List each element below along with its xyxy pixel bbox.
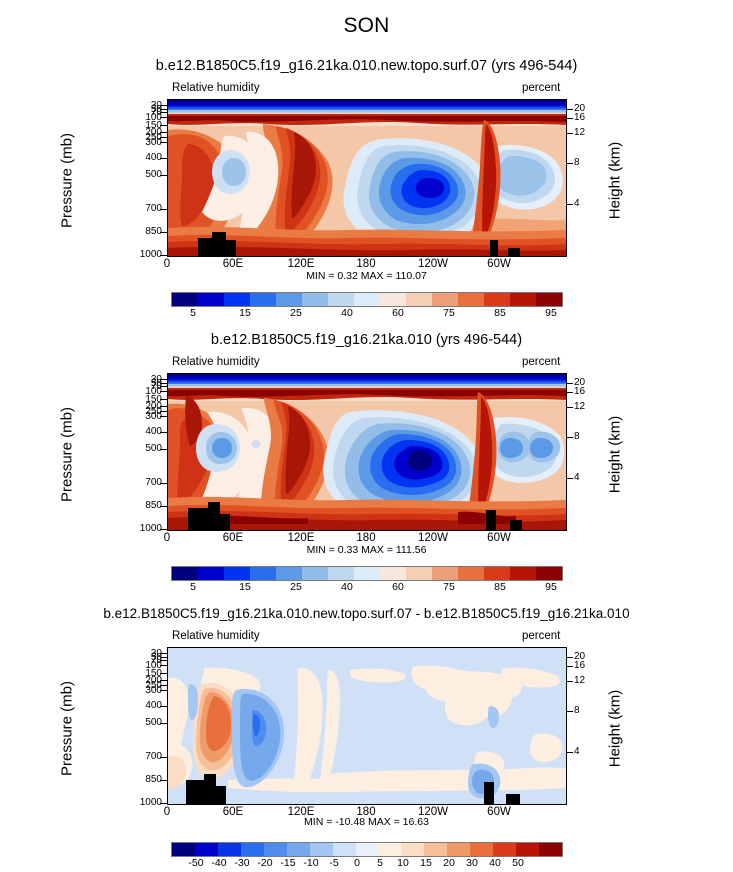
cbar-seg bbox=[218, 843, 241, 856]
panel-top-ytickmark bbox=[160, 175, 167, 176]
panel-diff-minmax: MIN = -10.48 MAX = 16.63 bbox=[0, 816, 733, 828]
panel-middle-ytick-700: 700 bbox=[118, 477, 162, 488]
panel-diff-htickmark bbox=[566, 711, 573, 712]
panel-top-ytickmark bbox=[160, 112, 167, 113]
panel-middle-xtick-120E: 120E bbox=[279, 532, 323, 544]
panel-top-ytickmark bbox=[160, 232, 167, 233]
panel-middle-plot[interactable] bbox=[167, 373, 567, 531]
panel-top-htick-4: 4 bbox=[574, 198, 604, 209]
panel-diff-ytickmark bbox=[160, 706, 167, 707]
panel-middle-units-label: percent bbox=[522, 356, 560, 368]
panel-top-ytickmark bbox=[160, 209, 167, 210]
panel-diff-htick-16: 16 bbox=[574, 660, 604, 671]
cbar-seg bbox=[378, 843, 401, 856]
panel-top-ytickmark bbox=[160, 117, 167, 118]
cbar-seg bbox=[264, 843, 287, 856]
panel-top-ytickmark bbox=[160, 132, 167, 133]
panel-top-ytick-850: 850 bbox=[118, 226, 162, 237]
panel-top-ytickmark bbox=[160, 137, 167, 138]
panel-diff-htick-8: 8 bbox=[574, 705, 604, 716]
panel-diff-ytickmark bbox=[160, 690, 167, 691]
panel-top-ytickmark bbox=[160, 158, 167, 159]
panel-top-ytick-500: 500 bbox=[118, 169, 162, 180]
panel-middle-ytickmark bbox=[160, 399, 167, 400]
panel-diff-ytick-300: 300 bbox=[118, 685, 162, 696]
panel-diff-htickmark bbox=[566, 666, 573, 667]
cbar-seg bbox=[172, 843, 195, 856]
panel-diff-variable-label: Relative humidity bbox=[172, 630, 260, 642]
panel-middle-ytick-400: 400 bbox=[118, 426, 162, 437]
panel-middle-ytickmark bbox=[160, 529, 167, 530]
panel-diff-y-axis-label: Pressure (mb) bbox=[59, 654, 76, 804]
panel-diff-colorbar[interactable] bbox=[171, 842, 563, 857]
panel-top-plot[interactable] bbox=[167, 99, 567, 257]
panel-top-ytickmark bbox=[160, 255, 167, 256]
panel-diff-ytickmark bbox=[160, 665, 167, 666]
panel-diff-contour-field bbox=[168, 648, 566, 804]
cbar-seg bbox=[539, 843, 562, 856]
panel-diff-ytickmark bbox=[160, 780, 167, 781]
panel-top-xtick-60E: 60E bbox=[213, 258, 253, 270]
panel-diff-htickmark bbox=[566, 657, 573, 658]
cbar-seg bbox=[424, 843, 447, 856]
panel-middle-ytick-500: 500 bbox=[118, 443, 162, 454]
panel-diff-htickmark bbox=[566, 681, 573, 682]
panel-middle-htick-16: 16 bbox=[574, 386, 604, 397]
panel-top-htickmark bbox=[566, 204, 573, 205]
panel-middle-contour-field bbox=[168, 374, 566, 530]
panel-middle-xtick-60W: 60W bbox=[479, 532, 519, 544]
panel-diff-ytickmark bbox=[160, 673, 167, 674]
panel-middle-ytickmark bbox=[160, 432, 167, 433]
panel-top-contour-field bbox=[168, 100, 566, 256]
panel-middle-htickmark bbox=[566, 478, 573, 479]
panel-diff-ytickmark bbox=[160, 803, 167, 804]
panel-top-units-label: percent bbox=[522, 82, 560, 94]
panel-diff-ytick-850: 850 bbox=[118, 774, 162, 785]
panel-top-ytick-300: 300 bbox=[118, 137, 162, 148]
panel-diff-title: b.e12.B1850C5.f19_g16.21ka.010.new.topo.… bbox=[0, 606, 733, 621]
cbar-seg bbox=[195, 843, 218, 856]
cbar-seg bbox=[470, 843, 493, 856]
panel-top-htickmark bbox=[566, 118, 573, 119]
panel-top-htick-12: 12 bbox=[574, 127, 604, 138]
panel-middle-ytickmark bbox=[160, 449, 167, 450]
panel-middle-htick-4: 4 bbox=[574, 472, 604, 483]
cbar-seg bbox=[493, 843, 516, 856]
panel-diff-ytickmark bbox=[160, 653, 167, 654]
panel-diff: b.e12.B1850C5.f19_g16.21ka.010.new.topo.… bbox=[0, 548, 733, 872]
panel-diff-y2-axis-label: Height (km) bbox=[607, 654, 624, 804]
panel-diff-ytick-700: 700 bbox=[118, 751, 162, 762]
panel-top-title: b.e12.B1850C5.f19_g16.21ka.010.new.topo.… bbox=[0, 58, 733, 74]
panel-top-ytick-400: 400 bbox=[118, 152, 162, 163]
panel-diff-ytickmark bbox=[160, 657, 167, 658]
panel-middle-htickmark bbox=[566, 392, 573, 393]
panel-diff-ytickmark bbox=[160, 660, 167, 661]
panel-top-ytickmark bbox=[160, 105, 167, 106]
panel-diff-htickmark bbox=[566, 752, 573, 753]
panel-middle-htick-8: 8 bbox=[574, 431, 604, 442]
panel-middle-xtick-120W: 120W bbox=[411, 532, 455, 544]
panel-diff-htick-4: 4 bbox=[574, 746, 604, 757]
cbar-seg bbox=[516, 843, 539, 856]
panel-middle-ytickmark bbox=[160, 506, 167, 507]
panel-top-htickmark bbox=[566, 133, 573, 134]
panel-top-y2-axis-label: Height (km) bbox=[607, 106, 624, 256]
panel-diff-ytick-500: 500 bbox=[118, 717, 162, 728]
panel-middle-xtick-60E: 60E bbox=[213, 532, 253, 544]
cbar-seg bbox=[310, 843, 333, 856]
panel-middle-htickmark bbox=[566, 383, 573, 384]
panel-middle-y2-axis-label: Height (km) bbox=[607, 380, 624, 530]
cbar-seg bbox=[241, 843, 264, 856]
panel-top-xtick-0: 0 bbox=[147, 258, 187, 270]
panel-diff-htick-12: 12 bbox=[574, 675, 604, 686]
panel-middle-ytickmark bbox=[160, 406, 167, 407]
panel-middle-ytick-850: 850 bbox=[118, 500, 162, 511]
panel-middle-htickmark bbox=[566, 407, 573, 408]
panel-top-xtick-120E: 120E bbox=[279, 258, 323, 270]
panel-diff-plot[interactable] bbox=[167, 647, 567, 805]
panel-middle-variable-label: Relative humidity bbox=[172, 356, 260, 368]
panel-top-ytick-700: 700 bbox=[118, 203, 162, 214]
panel-top-xtick-60W: 60W bbox=[479, 258, 519, 270]
panel-middle-ytickmark bbox=[160, 379, 167, 380]
panel-diff-ytick-400: 400 bbox=[118, 700, 162, 711]
panel-middle-htickmark bbox=[566, 437, 573, 438]
panel-diff-ytickmark bbox=[160, 757, 167, 758]
panel-middle-ytickmark bbox=[160, 411, 167, 412]
panel-top-xtick-180: 180 bbox=[346, 258, 386, 270]
panel-middle-y-axis-label: Pressure (mb) bbox=[59, 380, 76, 530]
panel-diff-units-label: percent bbox=[522, 630, 560, 642]
panel-middle-ytick-300: 300 bbox=[118, 411, 162, 422]
panel-top-ytickmark bbox=[160, 125, 167, 126]
panel-diff-ytickmark bbox=[160, 685, 167, 686]
panel-top-xtick-120W: 120W bbox=[411, 258, 455, 270]
panel-top-htickmark bbox=[566, 109, 573, 110]
cbar-seg bbox=[287, 843, 310, 856]
cbar-seg bbox=[401, 843, 424, 856]
panel-middle-title: b.e12.B1850C5.f19_g16.21ka.010 (yrs 496-… bbox=[0, 332, 733, 348]
panel-middle-ytickmark bbox=[160, 383, 167, 384]
panel-middle-ytickmark bbox=[160, 386, 167, 387]
panel-top-htick-16: 16 bbox=[574, 112, 604, 123]
cbar-seg bbox=[447, 843, 470, 856]
panel-top-y-axis-label: Pressure (mb) bbox=[59, 106, 76, 256]
figure-canvas: SON b.e12.B1850C5.f19_g16.21ka.010.new.t… bbox=[0, 0, 733, 872]
panel-diff-cblabel-50: 50 bbox=[503, 857, 533, 869]
panel-middle-ytickmark bbox=[160, 483, 167, 484]
panel-middle-ytickmark bbox=[160, 391, 167, 392]
panel-top-variable-label: Relative humidity bbox=[172, 82, 260, 94]
panel-diff-ytickmark bbox=[160, 723, 167, 724]
panel-diff-ytickmark bbox=[160, 680, 167, 681]
panel-middle-xtick-0: 0 bbox=[147, 532, 187, 544]
panel-middle-xtick-180: 180 bbox=[346, 532, 386, 544]
panel-middle-htick-12: 12 bbox=[574, 401, 604, 412]
panel-top-ytickmark bbox=[160, 109, 167, 110]
panel-middle-ytickmark bbox=[160, 416, 167, 417]
panel-top-htick-8: 8 bbox=[574, 157, 604, 168]
panel-top-htickmark bbox=[566, 163, 573, 164]
panel-top-ytickmark bbox=[160, 142, 167, 143]
cbar-seg bbox=[356, 843, 379, 856]
cbar-seg bbox=[333, 843, 356, 856]
